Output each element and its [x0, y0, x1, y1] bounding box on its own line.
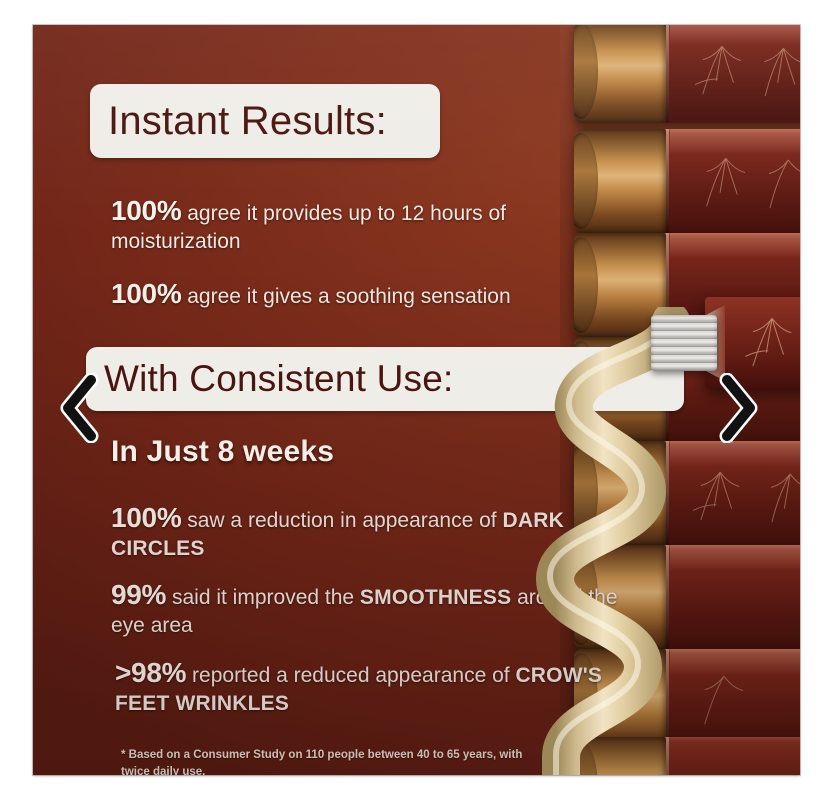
- dispensing-tube-nozzle: [651, 315, 717, 371]
- tube-seam: [666, 25, 669, 123]
- claim-text: saw a reduction in appearance of: [181, 509, 502, 532]
- claim-stat: 100%: [111, 502, 181, 533]
- page-root: Instant Results: With Consistent Use: 10…: [0, 0, 828, 803]
- carousel-next-button[interactable]: [716, 373, 760, 443]
- claim-crows-feet: >98% reported a reduced appearance of CR…: [115, 655, 635, 718]
- claim-stat: 100%: [111, 195, 181, 226]
- product-tube: [574, 737, 800, 775]
- claim-stat: >98%: [115, 657, 186, 688]
- study-footnote: * Based on a Consumer Study on 110 peopl…: [121, 747, 551, 775]
- tube-gloss: [670, 233, 800, 259]
- claim-text: reported a reduced appearance of: [186, 664, 515, 687]
- botanical-print: [674, 449, 800, 535]
- headline-instant-results: Instant Results:: [90, 84, 440, 158]
- claim-dark-circles: 100% saw a reduction in appearance of DA…: [111, 500, 631, 563]
- tube-seam: [666, 737, 669, 775]
- claim-text: agree it gives a soothing sensation: [181, 285, 510, 308]
- carousel-prev-button[interactable]: [58, 373, 102, 443]
- claim-stat: 99%: [111, 579, 166, 610]
- promo-banner-image: Instant Results: With Consistent Use: 10…: [33, 25, 800, 775]
- product-tube: [574, 25, 800, 123]
- botanical-print: [674, 27, 800, 113]
- claim-stat: 100%: [111, 278, 181, 309]
- tube-seam: [666, 441, 669, 545]
- tube-cap: [574, 25, 666, 123]
- chevron-right-icon[interactable]: [716, 373, 760, 443]
- subheading-in-just-8-weeks: In Just 8 weeks: [111, 435, 334, 469]
- tube-cap: [574, 737, 666, 775]
- claim-moisturization: 100% agree it provides up to 12 hours of…: [111, 193, 631, 256]
- tube-gloss: [670, 545, 800, 571]
- chevron-left-icon[interactable]: [58, 373, 102, 443]
- botanical-print: [674, 657, 800, 743]
- claim-smoothness: 99% said it improved the SMOOTHNESS arou…: [111, 577, 631, 640]
- claim-emphasis: SMOOTHNESS: [360, 586, 511, 609]
- headline-with-consistent-use: With Consistent Use:: [86, 347, 684, 411]
- tube-seam: [666, 129, 669, 233]
- claim-soothing: 100% agree it gives a soothing sensation: [111, 276, 631, 312]
- claim-text: said it improved the: [166, 586, 360, 609]
- botanical-print: [674, 137, 800, 223]
- tube-seam: [666, 545, 669, 649]
